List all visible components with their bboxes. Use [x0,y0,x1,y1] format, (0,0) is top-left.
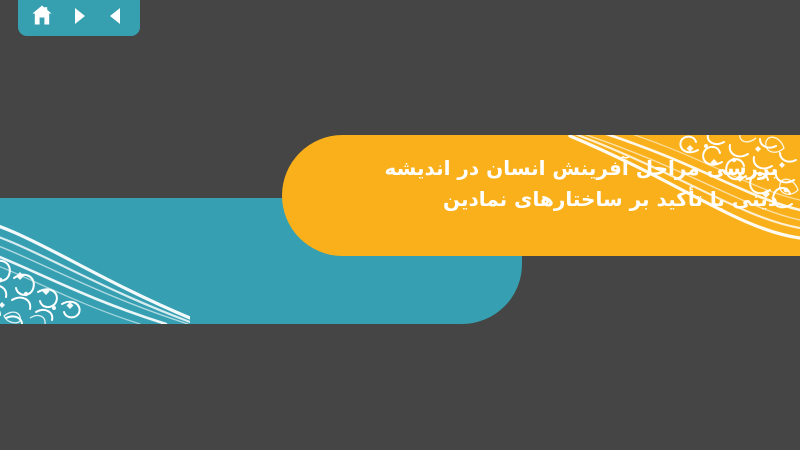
home-icon [30,4,54,28]
orange-banner: بررسی مراحل آفرینش انسان در اندیشه دینی … [282,135,800,256]
arabesque-ornament [0,198,190,324]
back-button[interactable] [102,2,130,30]
back-icon [105,5,127,27]
home-button[interactable] [28,2,56,30]
navigation-bar [18,0,140,36]
slide-title: بررسی مراحل آفرینش انسان در اندیشه دینی … [308,153,778,215]
forward-icon [68,5,90,27]
forward-button[interactable] [65,2,93,30]
title-line-1: بررسی مراحل آفرینش انسان در اندیشه [308,153,778,184]
presentation-slide: بررسی مراحل آفرینش انسان در اندیشه دینی … [0,0,800,450]
title-line-2: دینی با تأکید بر ساختارهای نمادین [308,184,778,215]
